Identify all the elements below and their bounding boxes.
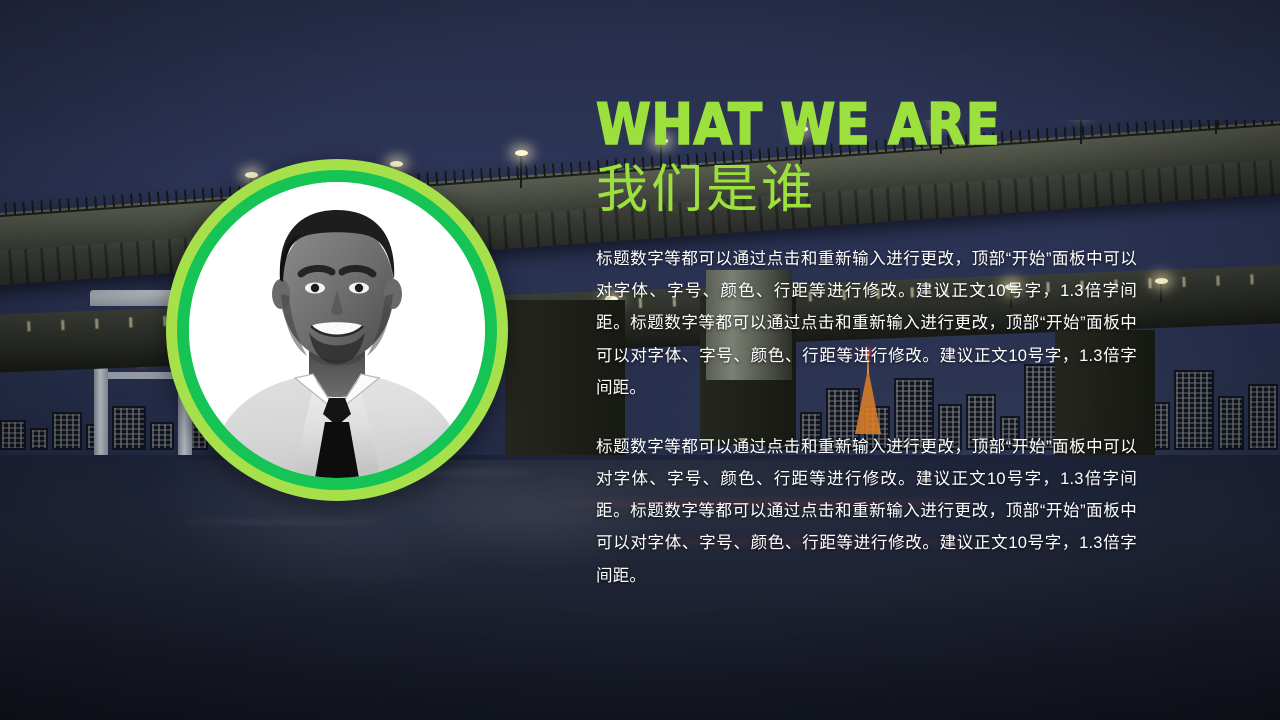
paragraph-2: 标题数字等都可以通过点击和重新输入进行更改，顶部“开始”面板中可以对字体、字号、…	[596, 431, 1137, 592]
paragraph-1: 标题数字等都可以通过点击和重新输入进行更改，顶部“开始”面板中可以对字体、字号、…	[596, 243, 1137, 404]
portrait-circle	[166, 159, 508, 501]
portrait-photo	[189, 182, 485, 478]
presentation-slide: WHAT WE ARE 我们是谁 标题数字等都可以通过点击和重新输入进行更改，顶…	[0, 0, 1280, 720]
body-text-block: 标题数字等都可以通过点击和重新输入进行更改，顶部“开始”面板中可以对字体、字号、…	[596, 243, 1137, 592]
heading-chinese: 我们是谁	[596, 162, 1137, 218]
heading-english: WHAT WE ARE	[596, 98, 1121, 154]
text-column: WHAT WE ARE 我们是谁 标题数字等都可以通过点击和重新输入进行更改，顶…	[596, 98, 1137, 592]
person-headshot-illustration	[189, 182, 485, 478]
